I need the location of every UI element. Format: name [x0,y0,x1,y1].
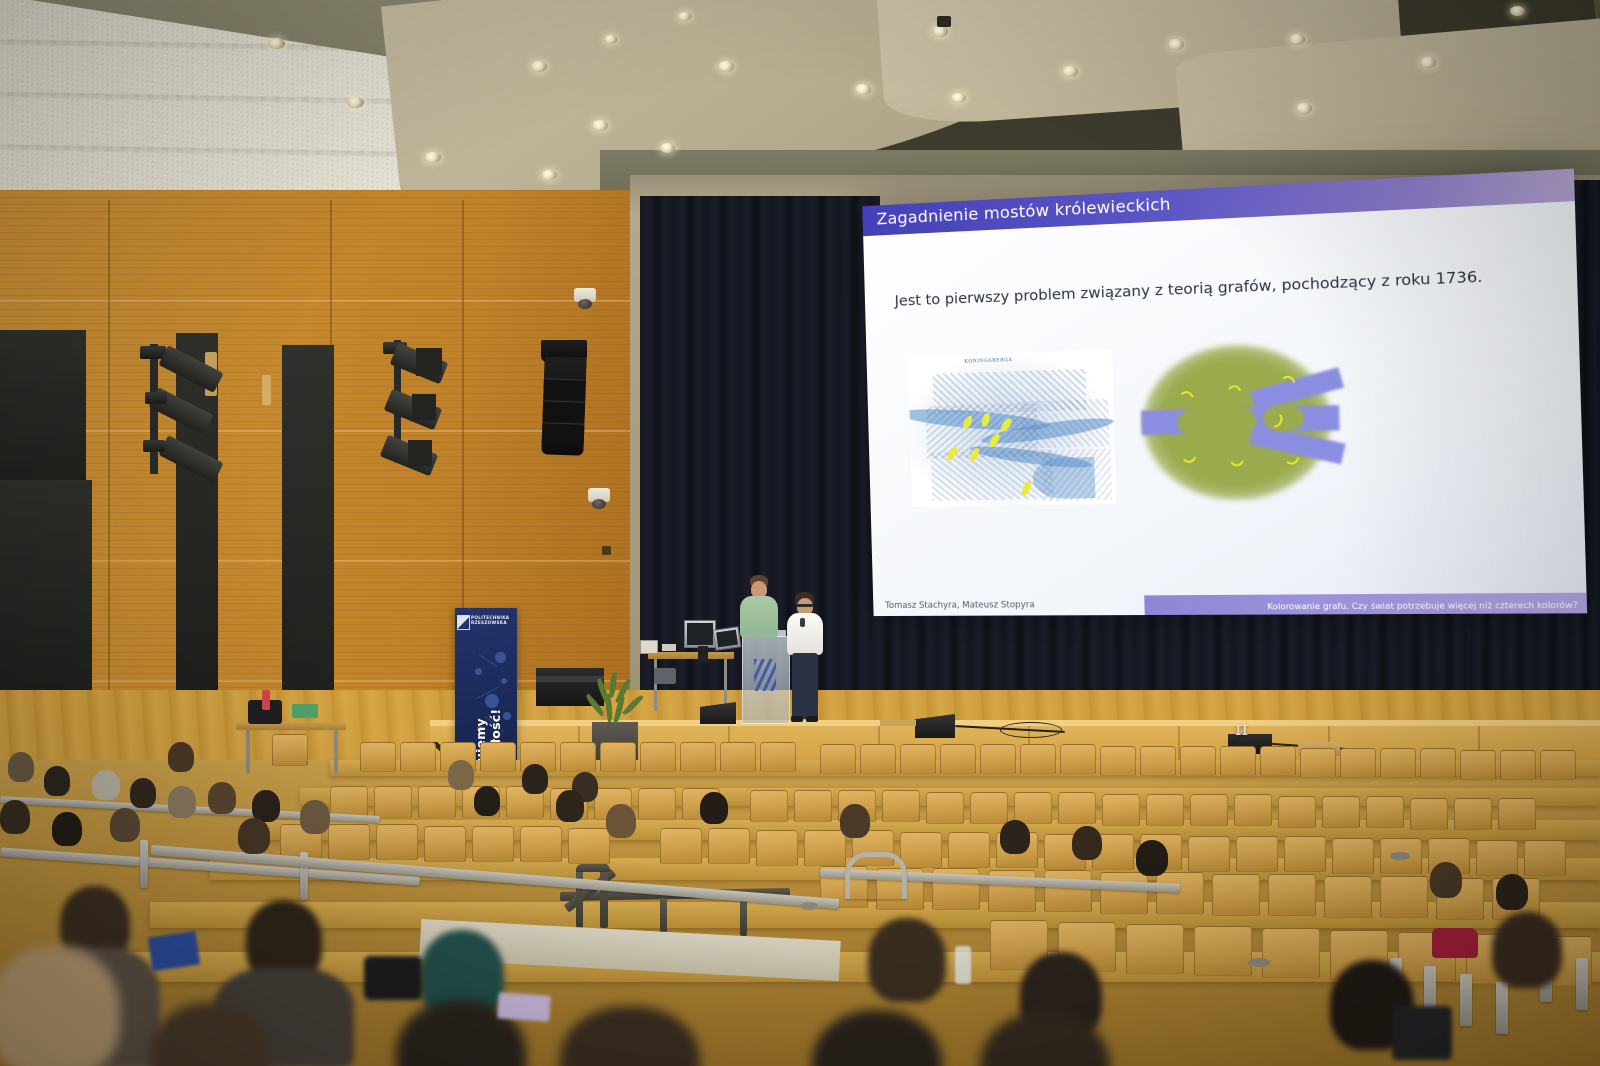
downlight [541,170,557,180]
shoe [806,716,818,722]
rail-loop [845,852,907,899]
wall-seam [462,200,464,620]
downlight [1296,103,1312,114]
red-jacket [1432,928,1478,958]
backpack [364,956,422,1000]
monitor-stand [698,646,708,662]
downlight [1510,6,1525,16]
downlight [531,61,547,72]
handheld-microphone [800,618,805,627]
lectern-podium [742,636,790,724]
downlight [1289,34,1305,45]
shoe [791,716,803,722]
paper-stack [662,644,676,651]
barn-door [412,394,436,420]
presenter-left [740,596,778,638]
downlight [951,93,966,103]
notebook [148,931,200,971]
downlight [718,61,734,72]
podium-logo [754,659,776,691]
ptz-dome-camera-icon [578,299,592,309]
doorway [282,345,334,740]
downlight [592,120,608,131]
decorative-plant [588,672,644,728]
presenter-legs [792,653,818,719]
tech-table [648,652,734,659]
rail-post [576,868,583,928]
floor-socket [1390,852,1410,860]
water-bottle [955,946,971,984]
stage-light-bracket [145,392,167,404]
downlight [1420,57,1436,68]
computer-monitor[interactable] [684,620,716,648]
wall-seam [108,200,110,760]
barn-door [408,440,432,466]
downlight [678,12,691,21]
slide-body-text: Jest to pierwszy problem związany z teor… [894,262,1524,316]
ptz-dome-camera-icon [592,499,606,509]
rail-post [600,864,608,928]
table-leg [654,659,657,711]
projection-screen: Zagadnienie mostów królewieckich Jest to… [862,169,1587,616]
koenigsberg-historic-map: KONINGSBERGA [908,350,1116,508]
rail-post [140,840,148,888]
wall-seam [0,300,650,302]
auditorium-photo: Zagadnienie mostów królewieckich Jest to… [0,0,1600,1066]
ceiling-projector [937,16,951,27]
university-name: POLITECHNIKA RZESZOWSKA [471,615,517,626]
laptop-screen[interactable] [713,626,742,650]
fire-alarm [262,690,270,710]
desk-leg [246,730,250,774]
downlight [932,26,948,37]
paper-sheet [497,992,551,1022]
university-logomark [457,615,470,630]
presentation-slide: Zagadnienie mostów królewieckich Jest to… [862,169,1587,616]
downlight [855,84,871,95]
cable-coil [1000,722,1062,738]
pi-symbol: π [1235,716,1248,740]
floor-plate [880,720,916,726]
green-folder [292,704,318,718]
barn-door [416,348,442,376]
floor-socket [1248,958,1270,967]
rail-top [576,864,610,872]
presenter-right [787,613,823,655]
seat-row [330,786,1600,818]
table-leg [724,659,727,711]
downlight [604,35,617,44]
map-caption: KONINGSBERGA [964,358,1012,365]
eyeglasses [796,604,813,607]
downlight [424,152,441,163]
stage-light-bracket [143,440,165,452]
paper-stack [640,640,658,654]
slide-footer-subject: Kolorowanie grafu. Czy świat potrzebuje … [1267,600,1578,611]
seat-row-back [360,742,1600,772]
door-handle[interactable] [262,375,271,405]
koenigsberg-graph-diagram [1133,335,1342,507]
downlight [268,38,285,49]
rail-post [660,898,667,934]
side-chair [272,734,308,766]
downlight [660,143,675,153]
slide-authors: Tomasz Stachyra, Mateusz Stopyra [885,600,1035,611]
line-array-speaker [541,356,586,455]
chair-back [654,668,676,684]
desk-leg [334,730,338,774]
downlight [1062,66,1078,77]
downlight [1168,39,1184,50]
bag [1392,1006,1452,1060]
downlight [347,97,364,108]
floor-socket [800,902,818,910]
rail-post [740,900,747,936]
wall-sensor [602,546,611,555]
